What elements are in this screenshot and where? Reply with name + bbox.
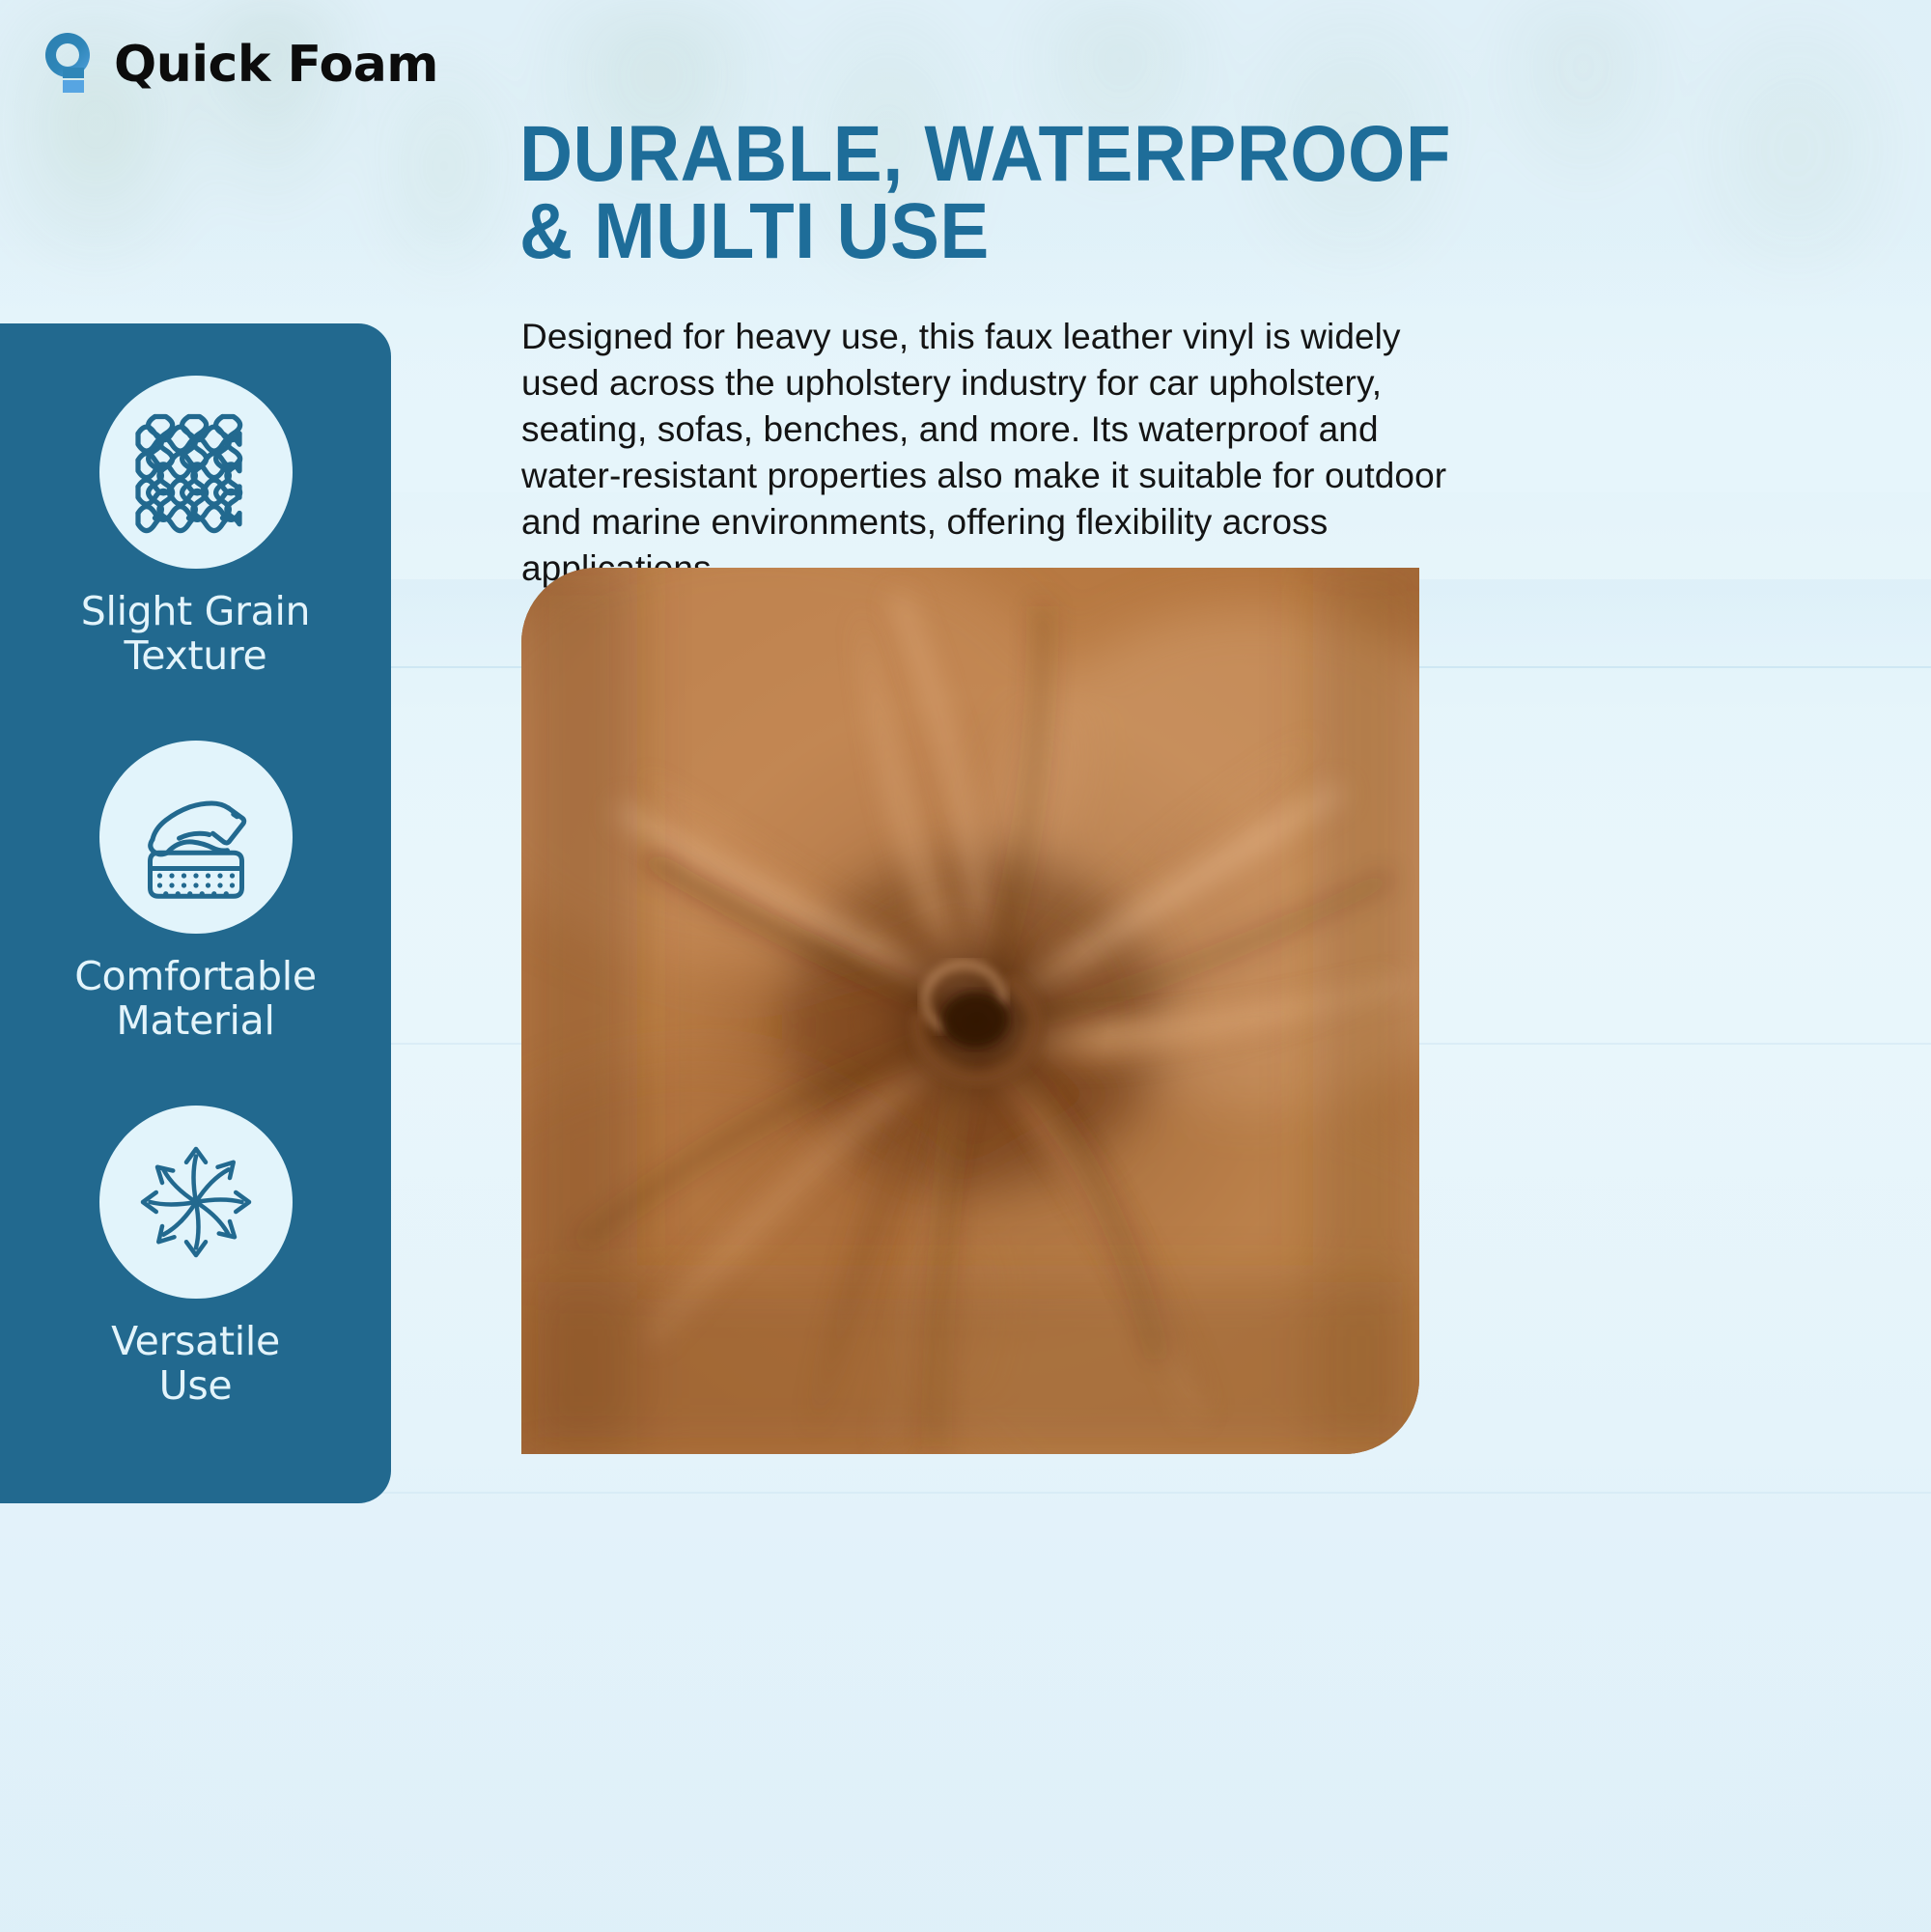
brand-name: Quick Foam <box>114 40 438 90</box>
feature-label-line-2: Texture <box>125 632 267 679</box>
hand-pressing-foam-mattress-icon <box>124 765 268 910</box>
feature-label-line-1: Versatile <box>111 1318 280 1364</box>
product-photo <box>521 568 1419 1454</box>
feature-label-line-1: Slight Grain <box>81 588 310 634</box>
page-title: DURABLE, WATERPROOF & MULTI USE <box>519 116 1382 269</box>
feature-item-comfortable-material[interactable]: Comfortable Material <box>0 741 391 1044</box>
quick-foam-q-logo-icon <box>39 29 98 100</box>
headline-line-1: DURABLE, WATERPROOF <box>519 116 1382 193</box>
headline-line-2: & MULTI USE <box>519 193 1382 270</box>
feature-icon-circle <box>99 741 293 934</box>
swirled-faux-leather-vinyl-image <box>521 568 1419 1454</box>
features-sidebar: Slight Grain Texture <box>0 323 391 1503</box>
description-text: Designed for heavy use, this faux leathe… <box>521 314 1453 593</box>
woven-texture-icon <box>124 400 268 545</box>
multi-directional-arrows-icon <box>124 1130 268 1274</box>
feature-icon-circle <box>99 1106 293 1299</box>
feature-label: Comfortable Material <box>74 955 317 1044</box>
feature-label-line-2: Material <box>116 997 274 1044</box>
feature-item-versatile-use[interactable]: Versatile Use <box>0 1106 391 1409</box>
feature-label: Slight Grain Texture <box>81 590 310 679</box>
feature-item-slight-grain-texture[interactable]: Slight Grain Texture <box>0 376 391 679</box>
brand-logo[interactable]: Quick Foam <box>39 29 438 100</box>
feature-label-line-1: Comfortable <box>74 953 317 999</box>
feature-label: Versatile Use <box>111 1320 280 1409</box>
feature-icon-circle <box>99 376 293 569</box>
description-paragraph: Designed for heavy use, this faux leathe… <box>521 314 1453 593</box>
feature-label-line-2: Use <box>159 1362 233 1409</box>
